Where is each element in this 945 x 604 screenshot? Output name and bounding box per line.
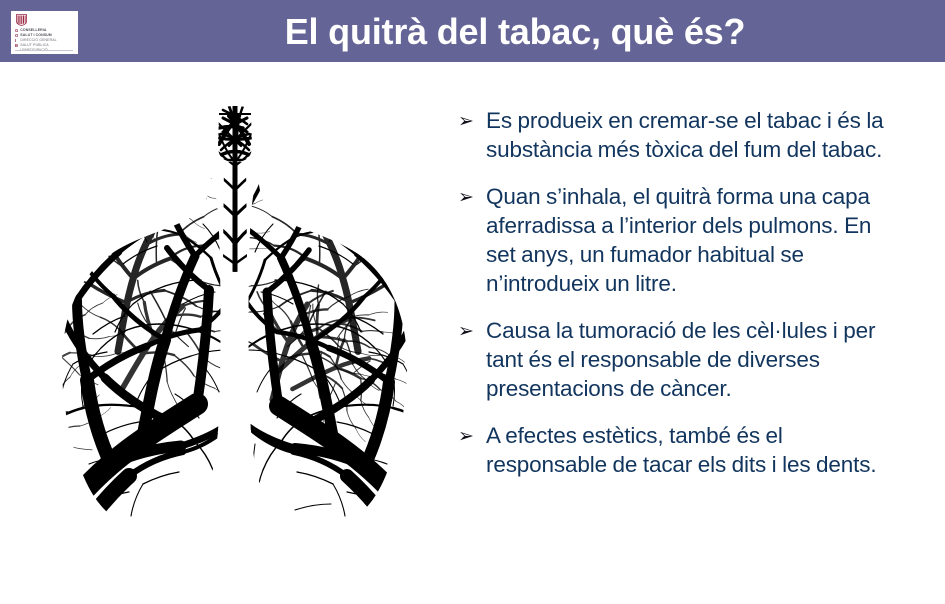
bullet-text-1: Es produeix en cremar-se el tabac i és l…	[486, 106, 890, 164]
bullet-list: ➢ Es produeix en cremar-se el tabac i és…	[458, 106, 890, 497]
goib-logo: G O I B CONSELLERIA SALUT I CONSUM DIREC…	[11, 11, 78, 54]
bullet-text-2: Quan s’inhala, el quitrà forma una capa …	[486, 182, 890, 298]
arrow-bullet-icon: ➢	[458, 316, 486, 346]
logo-divider	[15, 50, 73, 51]
header-bar: G O I B CONSELLERIA SALUT I CONSUM DIREC…	[0, 0, 945, 62]
arrow-bullet-icon: ➢	[458, 182, 486, 212]
bullet-text-3: Causa la tumoració de les cèl·lules i pe…	[486, 316, 890, 403]
list-item: ➢ A efectes estètics, també és el respon…	[458, 421, 890, 479]
list-item: ➢ Es produeix en cremar-se el tabac i és…	[458, 106, 890, 164]
arrow-bullet-icon: ➢	[458, 421, 486, 451]
page-title: El quitrà del tabac, què és?	[95, 6, 935, 58]
lungs-tree-illustration	[33, 104, 443, 544]
list-item: ➢ Causa la tumoració de les cèl·lules i …	[458, 316, 890, 403]
logo-initial-b: B	[15, 43, 18, 48]
bullet-text-4: A efectes estètics, també és el responsa…	[486, 421, 890, 479]
arrow-bullet-icon: ➢	[458, 106, 486, 136]
balearic-shield-icon	[16, 14, 30, 27]
slide-root: G O I B CONSELLERIA SALUT I CONSUM DIREC…	[0, 0, 945, 604]
list-item: ➢ Quan s’inhala, el quitrà forma una cap…	[458, 182, 890, 298]
